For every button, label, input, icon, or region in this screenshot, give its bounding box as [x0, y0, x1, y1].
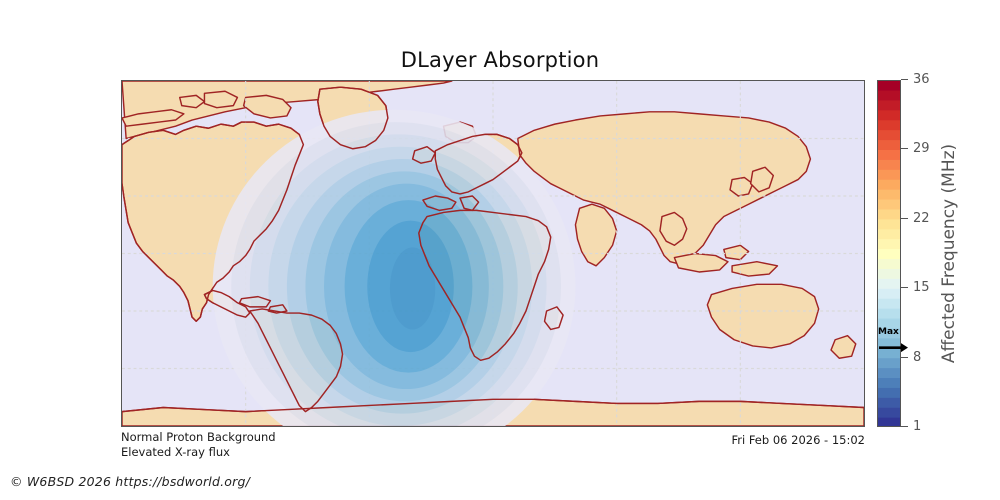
colorbar-tick-mark [901, 79, 908, 80]
colorbar-band [877, 149, 901, 160]
colorbar-band [877, 159, 901, 170]
world-map-panel[interactable] [121, 80, 865, 427]
page-title: DLayer Absorption [0, 48, 1000, 72]
copyright-footer: © W6BSD 2026 https://bsdworld.org/ [10, 474, 250, 489]
colorbar-band [877, 219, 901, 230]
colorbar-band [877, 348, 901, 359]
colorbar-band [877, 298, 901, 309]
colorbar-band [877, 229, 901, 240]
colorbar-band [877, 268, 901, 279]
colorbar-band [877, 407, 901, 418]
korea-japan-north [730, 178, 753, 196]
colorbar-band [877, 120, 901, 131]
colorbar-tick-label: 15 [913, 279, 930, 297]
colorbar-band [877, 169, 901, 180]
colorbar-band [877, 377, 901, 388]
colorbar-tick-label: 22 [913, 210, 930, 228]
contour-band-10-max [390, 247, 435, 329]
colorbar-band [877, 209, 901, 220]
colorbar-tick-mark [901, 426, 908, 427]
colorbar-band [877, 397, 901, 408]
colorbar-band [877, 110, 901, 121]
colorbar-band [877, 189, 901, 200]
colorbar-band [877, 130, 901, 141]
colorbar-band [877, 278, 901, 289]
colorbar-band [877, 417, 901, 427]
colorbar-band [877, 199, 901, 210]
colorbar-tick-mark [901, 357, 908, 358]
colorbar-band [877, 387, 901, 398]
colorbar-band [877, 258, 901, 269]
colorbar-tick-label: 8 [913, 349, 921, 367]
colorbar-band [877, 139, 901, 150]
colorbar-band [877, 239, 901, 250]
colorbar-tick-mark [901, 218, 908, 219]
colorbar-band [877, 90, 901, 101]
colorbar-band [877, 288, 901, 299]
colorbar-band [877, 179, 901, 190]
colorbar-band [877, 358, 901, 369]
colorbar-band [877, 368, 901, 379]
colorbar-band [877, 338, 901, 349]
dlayer-absorption-figure: DLayer Absorption [0, 0, 1000, 500]
colorbar-gradient [877, 80, 901, 427]
colorbar-tick-label: 1 [913, 418, 921, 436]
colorbar-tick-mark [901, 148, 908, 149]
colorbar-tick-label: 29 [913, 140, 930, 158]
colorbar-band [877, 328, 901, 339]
colorbar-band [877, 308, 901, 319]
colorbar-tick-label: 36 [913, 71, 930, 89]
timestamp: Fri Feb 06 2026 - 15:02 [445, 433, 865, 447]
colorbar-band [877, 249, 901, 260]
map-svg [122, 81, 864, 426]
colorbar[interactable] [877, 80, 901, 427]
colorbar-axis-label: Affected Frequency (MHz) [937, 80, 961, 427]
colorbar-tick-mark [901, 287, 908, 288]
colorbar-band [877, 318, 901, 329]
colorbar-band [877, 100, 901, 111]
colorbar-band [877, 80, 901, 91]
